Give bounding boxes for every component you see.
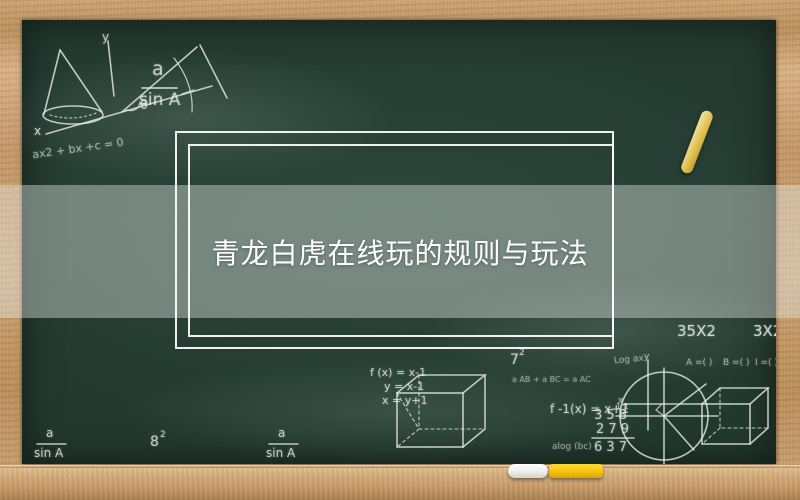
ledge-wood-grain — [0, 468, 800, 500]
yellow-chalk-icon — [549, 464, 603, 478]
white-chalk-icon — [508, 464, 548, 478]
chalk-ledge — [0, 468, 800, 500]
page-title: 青龙白虎在线玩的规则与玩法 — [0, 185, 800, 318]
chalkboard-title-card: a sin A y x θ ax2 + bx +c = 0 35X2 3X2 L… — [0, 0, 800, 500]
